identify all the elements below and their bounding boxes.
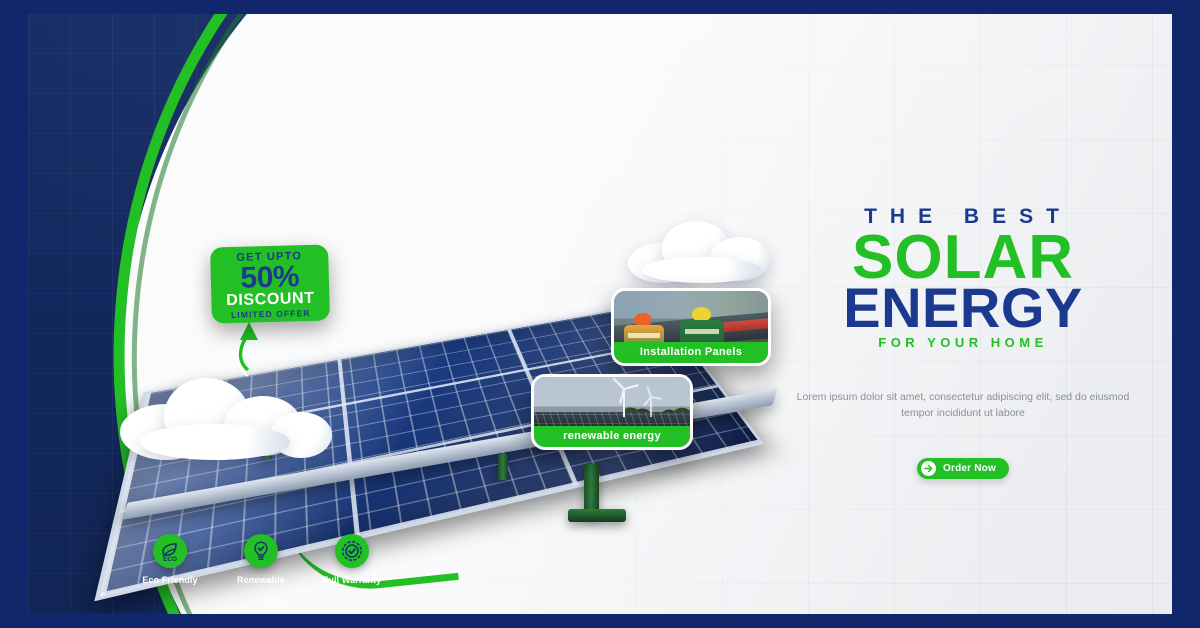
solar-energy-banner: GET UPTO 50% DISCOUNT LIMITED OFFER [0, 0, 1200, 628]
order-now-button[interactable]: Order Now [917, 458, 1009, 479]
photo-card-installation[interactable]: Installation Panels [611, 288, 771, 366]
renewable-card-caption: renewable energy [534, 426, 690, 447]
order-now-label: Order Now [943, 463, 996, 474]
banner-stage: GET UPTO 50% DISCOUNT LIMITED OFFER [28, 14, 1172, 614]
wind-turbine-large [612, 379, 636, 419]
solar-panel-base-plate [568, 509, 626, 522]
rosette-check-icon [335, 534, 369, 568]
photo-card-renewable[interactable]: renewable energy [531, 374, 693, 450]
up-arrow-icon [228, 320, 274, 382]
discount-badge[interactable]: GET UPTO 50% DISCOUNT LIMITED OFFER [210, 244, 330, 323]
feature-label: Eco Friendly [138, 575, 202, 585]
solar-panel-support-leg [498, 454, 508, 480]
headline-energy: ENERGY [798, 282, 1128, 334]
arrow-right-icon [921, 461, 936, 476]
leaf-eco-icon: ECO [153, 534, 187, 568]
lightbulb-check-icon [244, 534, 278, 568]
headline-block: THE BEST SOLAR ENERGY FOR YOUR HOME [798, 206, 1128, 349]
installation-card-caption: Installation Panels [614, 342, 768, 363]
wind-turbine-small [642, 387, 660, 417]
feature-renewable[interactable]: Renewable [229, 534, 293, 585]
discount-limited-offer-label: LIMITED OFFER [231, 309, 311, 320]
feature-label: Full Warranty [320, 575, 384, 585]
feature-label: Renewable [229, 575, 293, 585]
feature-badges: ECO Eco Friendly Renewable [138, 534, 384, 585]
svg-text:ECO: ECO [163, 556, 177, 563]
discount-percent: 50% [240, 263, 299, 293]
discount-label: DISCOUNT [226, 290, 315, 308]
body-copy: Lorem ipsum dolor sit amet, consectetur … [788, 389, 1138, 422]
feature-full-warranty[interactable]: Full Warranty [320, 534, 384, 585]
feature-eco-friendly[interactable]: ECO Eco Friendly [138, 534, 202, 585]
